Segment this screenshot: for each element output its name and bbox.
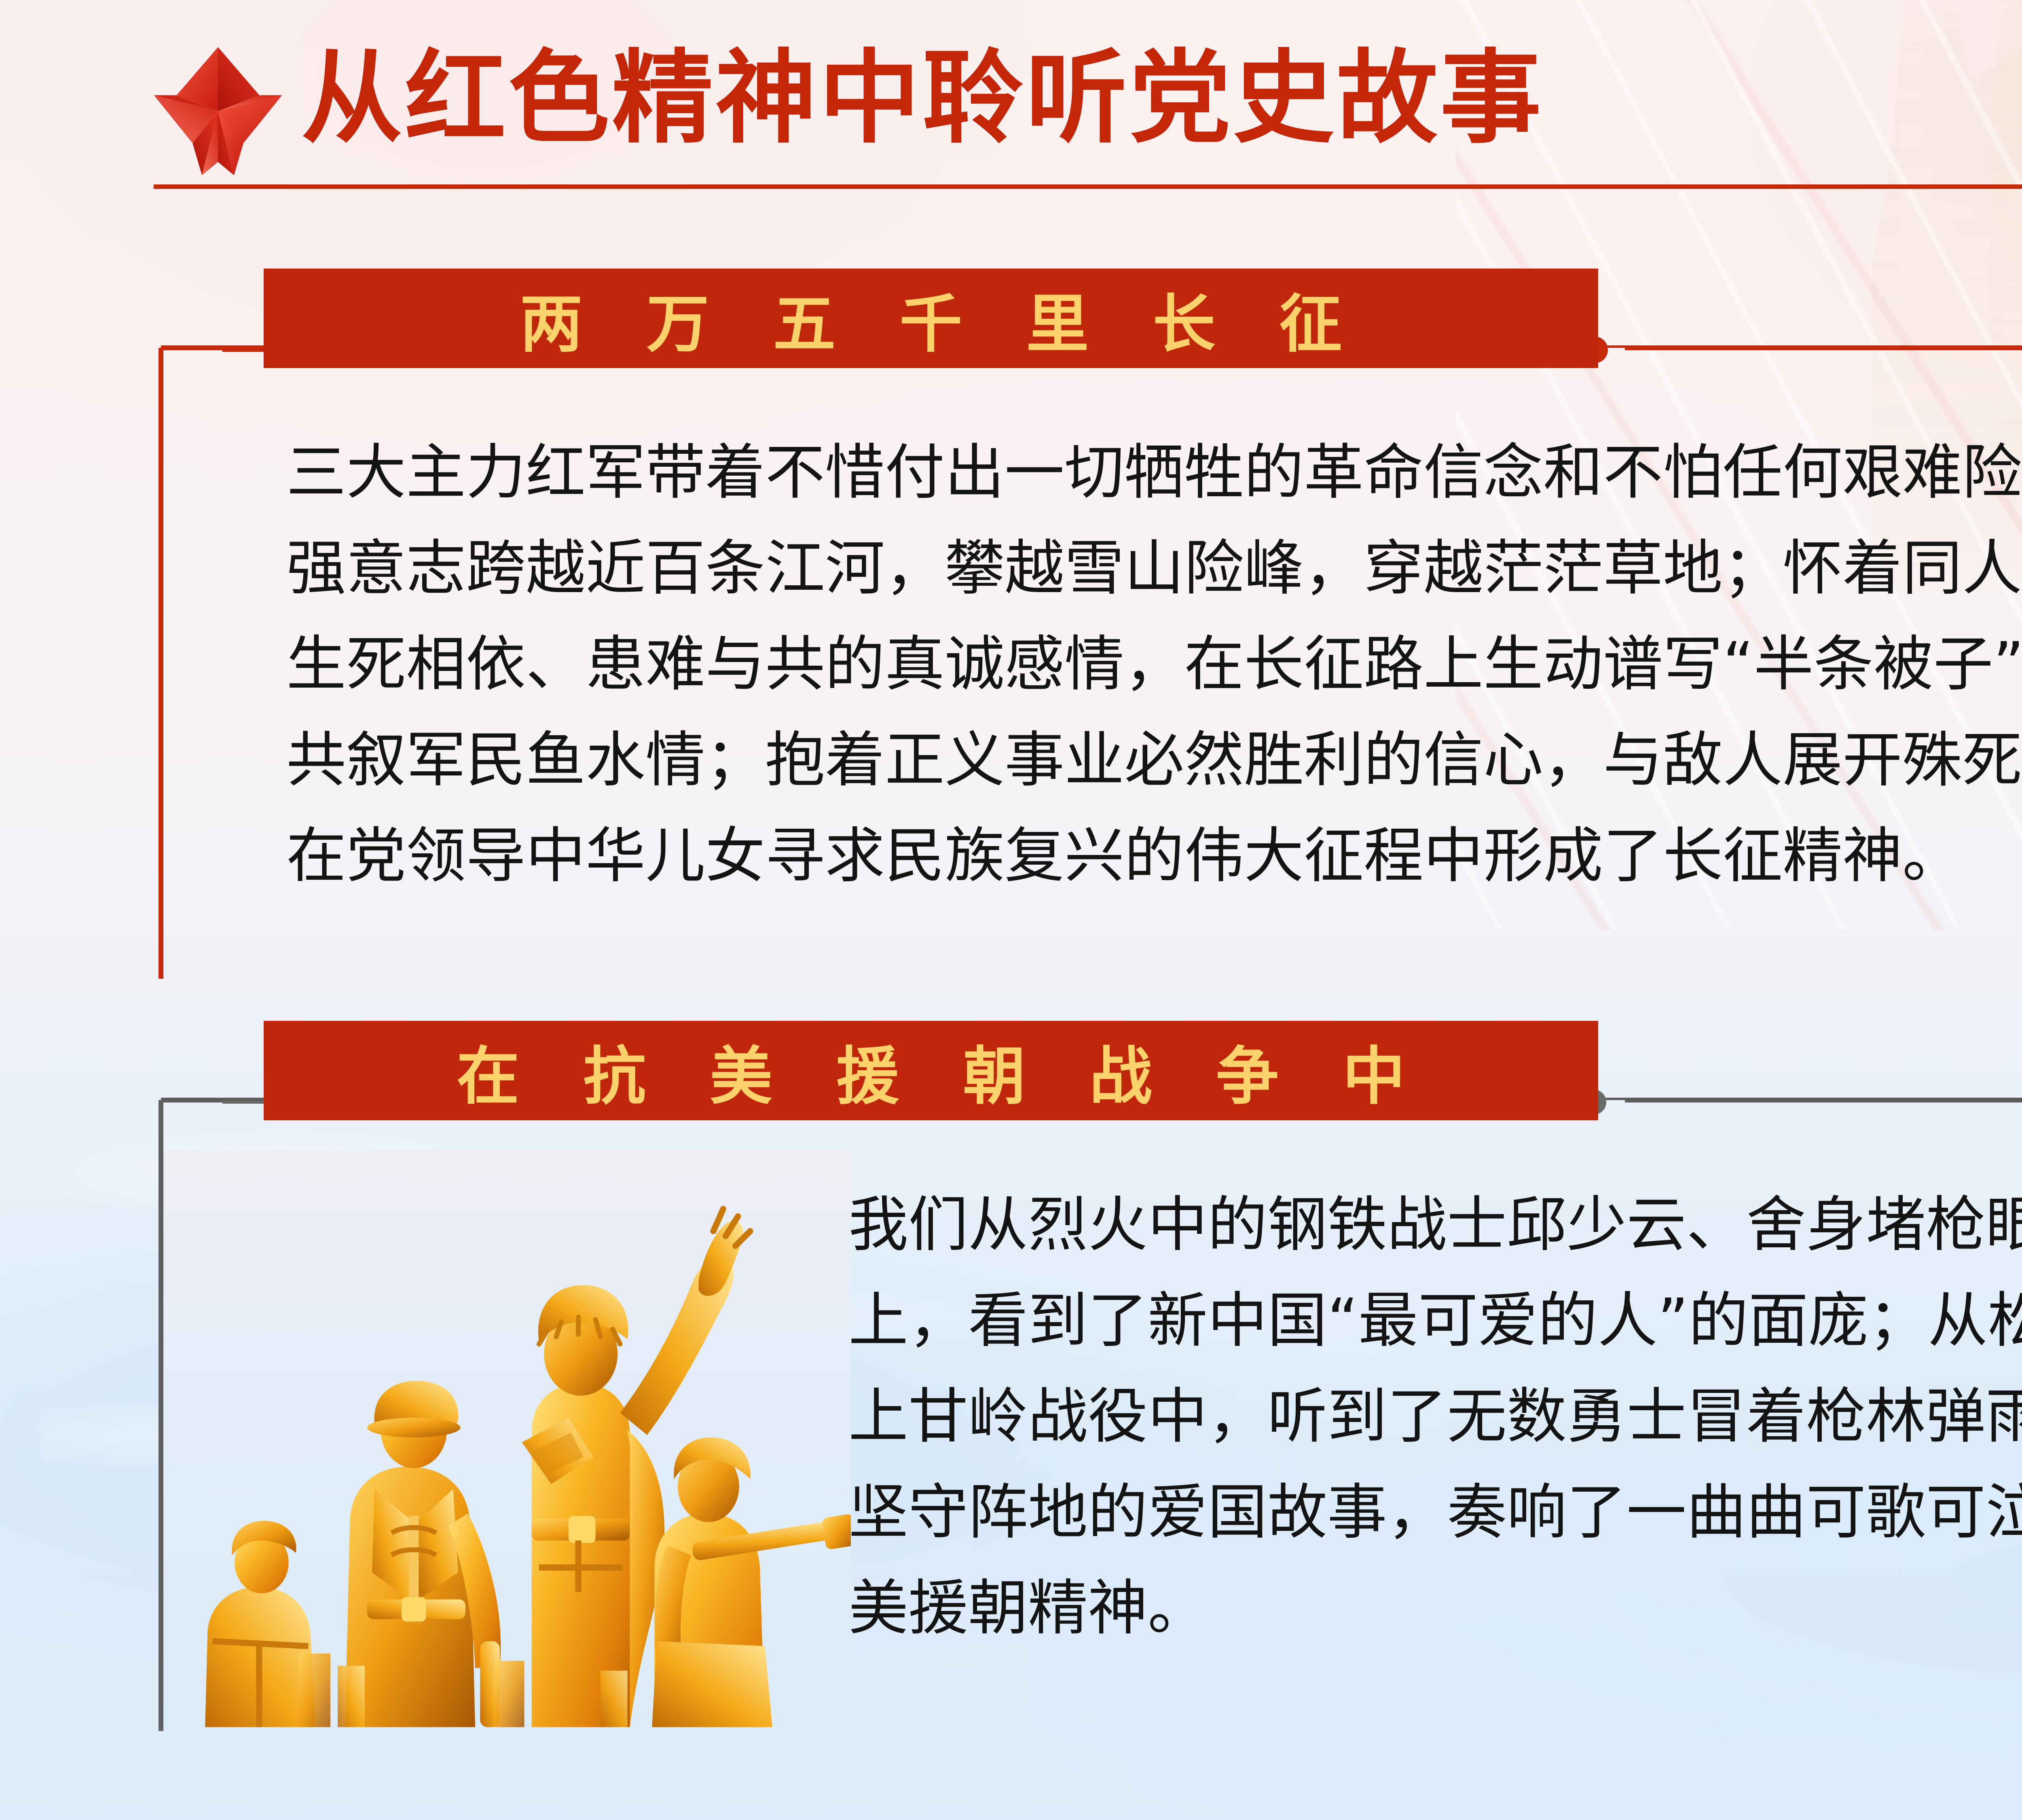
body-line: 上，看到了新中国“最可爱的人”的面庞；从松骨峰战役、长津湖战役、 [848,1273,2022,1369]
body-line: 美援朝精神。 [848,1560,2022,1656]
page-title: 从红色精神中聆听党史故事 [301,40,1544,157]
body-line: 强意志跨越近百条江河，攀越雪山险峰，穿越茫茫草地；怀着同人民群众 [286,521,2022,616]
page-header: 从红色精神中聆听党史故事 [0,0,2022,210]
section-1-body-text: 三大主力红军带着不惜付出一切牺牲的革命信念和不怕任何艰难险阻的顽 强意志跨越近百… [286,425,2022,904]
golden-revolutionary-heroes-statue-image [163,1149,851,1729]
section-2-body-text: 我们从烈火中的钢铁战士邱少云、舍身堵枪眼的黄继光等志愿军战士身 上，看到了新中国… [848,1177,2022,1656]
body-line: 共叙军民鱼水情；抱着正义事业必然胜利的信心，与敌人展开殊死搏斗， [286,712,2022,808]
box-edge-top-right [1625,348,2022,350]
body-line: 我们从烈火中的钢铁战士邱少云、舍身堵枪眼的黄继光等志愿军战士身 [848,1177,2022,1273]
body-line: 上甘岭战役中，听到了无数勇士冒着枪林弹雨勇敢冲锋，顶着狂轰滥炸 [848,1369,2022,1464]
section-2-banner-title: 在 抗 美 援 朝 战 争 中 [264,1021,1598,1120]
body-line: 三大主力红军带着不惜付出一切牺牲的革命信念和不怕任何艰难险阻的顽 [286,425,2022,521]
section-1-banner-title: 两 万 五 千 里 长 征 [264,269,1598,368]
title-underline-rule [154,184,2022,189]
box-edge-top-right [1625,1100,2022,1103]
body-line: 生死相依、患难与共的真诚感情，在长征路上生动谱写“半条被子”的故事， [286,616,2022,712]
box-edge-right [159,348,161,979]
box-edge-left [161,348,163,979]
box-edge-right [159,1100,161,1731]
body-line: 坚守阵地的爱国故事，奏响了一曲曲可歌可泣的凯歌，锻造出伟大的抗 [848,1464,2022,1560]
section-changzheng: 两 万 五 千 里 长 征 三大主力红军带着不惜付出一切牺牲的革命信念和不怕任何… [161,348,2022,979]
red-star-icon [151,44,285,178]
section-kangmeiyuanchao: 在 抗 美 援 朝 战 争 中 我们从烈火中的钢铁战士邱少云、舍身堵枪眼的黄继光… [161,1100,2022,1731]
body-line: 在党领导中华儿女寻求民族复兴的伟大征程中形成了长征精神。 [286,808,2022,904]
